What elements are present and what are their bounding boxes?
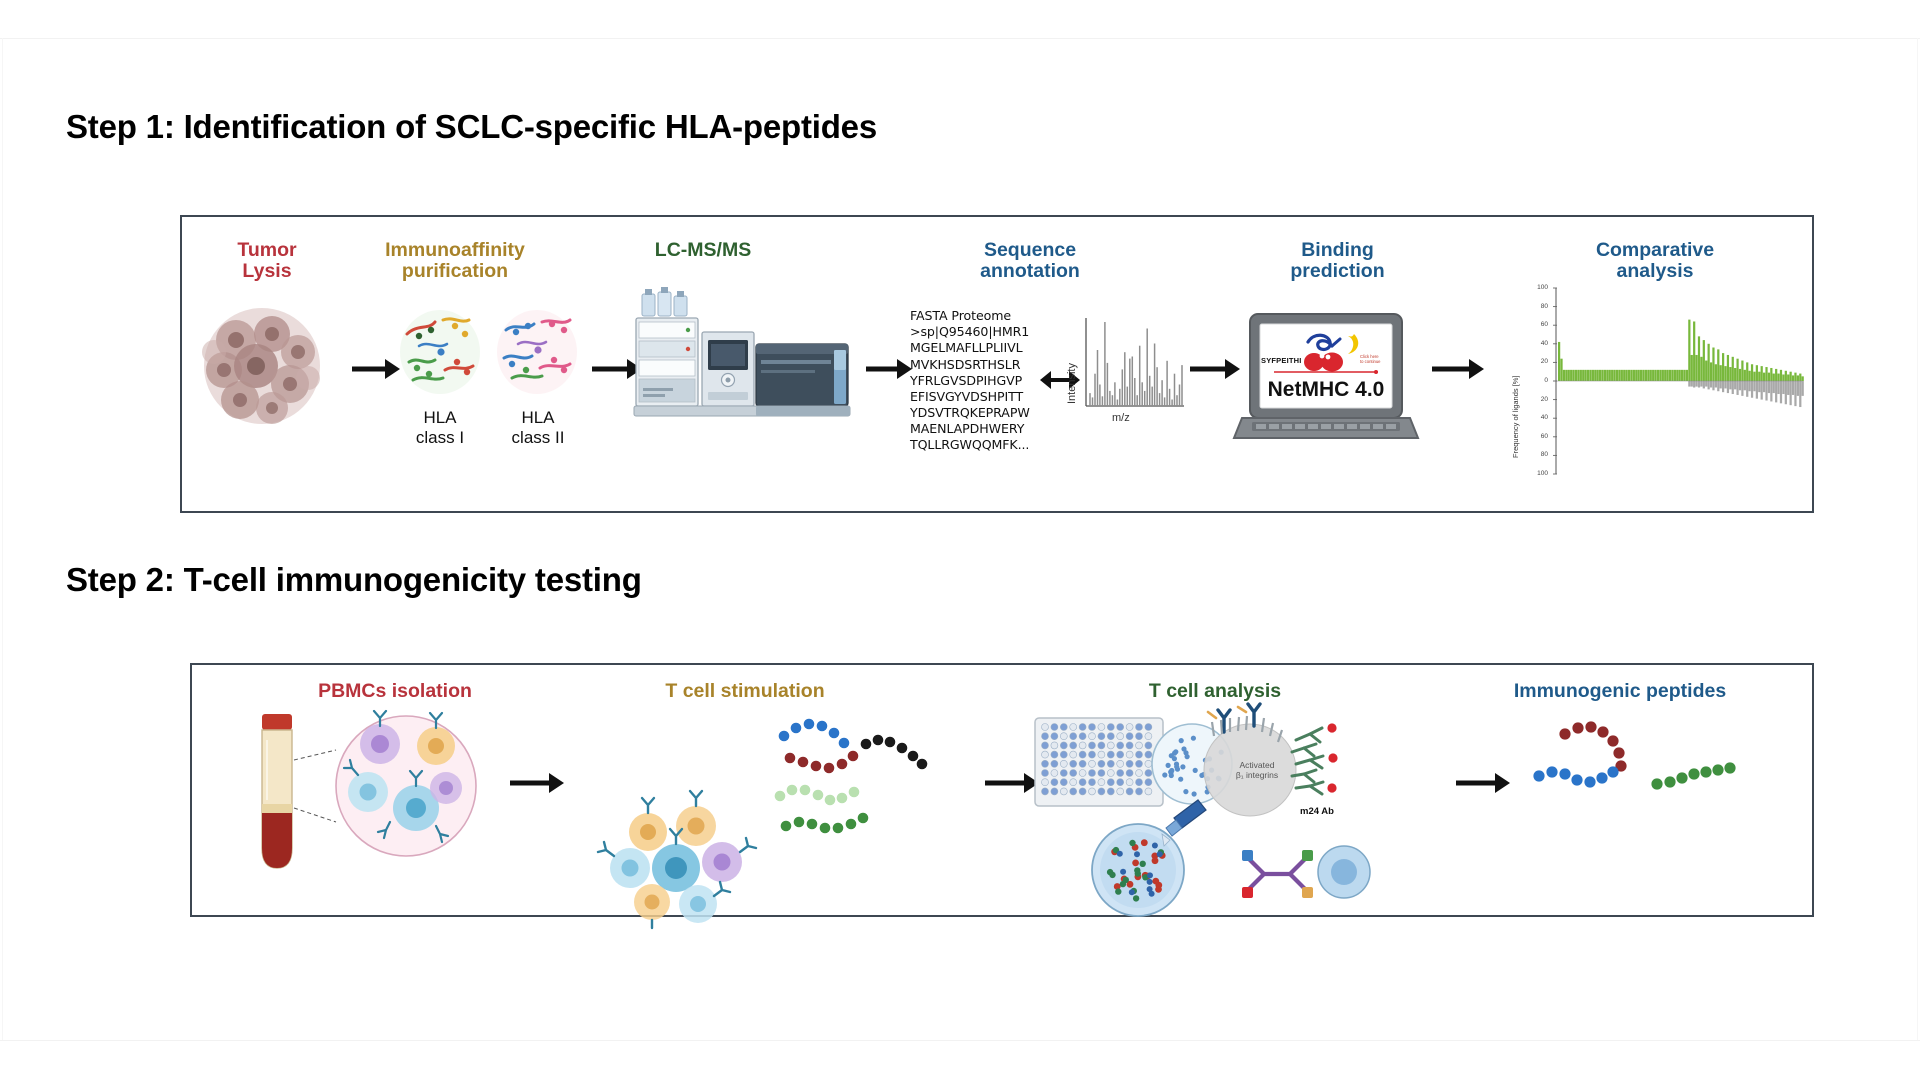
stage-label-lc-ms-ms: LC-MS/MS bbox=[608, 240, 798, 261]
pbmc-isolation-illustration bbox=[240, 700, 500, 900]
lc-ms-ms-instrument-illustration bbox=[630, 288, 860, 450]
step1-title: Step 1: Identification of SCLC-specific … bbox=[66, 108, 877, 146]
stage-label-comparative-analysis: Comparative analysis bbox=[1560, 240, 1750, 282]
hla-class-i-molecule-illustration bbox=[395, 300, 485, 400]
comparative-chart-tick: 60 bbox=[1532, 433, 1548, 440]
m24-antibody-label: m24 Ab bbox=[1300, 806, 1334, 817]
tumor-cell-cluster-illustration bbox=[190, 300, 340, 430]
workflow-arrow-7 bbox=[985, 772, 1041, 794]
syfpeithi-logo-subtext: Click here to continue bbox=[1360, 354, 1381, 365]
comparative-chart-tick: 20 bbox=[1532, 396, 1548, 403]
canvas-border-left bbox=[2, 38, 3, 1040]
microwell-plate-illustration bbox=[1035, 718, 1163, 806]
comparative-chart-tick: 80 bbox=[1532, 303, 1548, 310]
canvas-border-right bbox=[1917, 38, 1918, 1040]
comparative-analysis-chart: Frequency of ligands [%] 100806040200204… bbox=[1506, 288, 1806, 480]
petri-dish-pipette-illustration bbox=[1082, 812, 1202, 922]
fasta-proteome-text-block: FASTA Proteome >sp|Q95460|HMR1 MGELMAFLL… bbox=[910, 308, 1030, 454]
workflow-arrow-1 bbox=[352, 358, 400, 380]
spectrum-y-axis-label: Intensity bbox=[1066, 363, 1078, 404]
comparative-chart-tick: 0 bbox=[1532, 377, 1548, 384]
flow-cytometry-antibody-illustration bbox=[1238, 830, 1378, 916]
workflow-arrow-3 bbox=[866, 358, 914, 380]
stage-label-sequence-annotation: Sequence annotation bbox=[935, 240, 1125, 282]
t-cell-stimulation-cells-illustration bbox=[600, 800, 770, 920]
workflow-arrow-8 bbox=[1456, 772, 1512, 794]
comparative-chart-plot-area bbox=[1556, 288, 1804, 478]
canvas-border-bottom bbox=[0, 1040, 1920, 1041]
comparative-chart-tick: 100 bbox=[1532, 470, 1548, 477]
immunogenic-peptide-chains-illustration bbox=[1545, 712, 1755, 832]
comparative-chart-tick: 100 bbox=[1532, 284, 1548, 291]
activated-integrin-label: Activated β₁ integrins bbox=[1210, 760, 1304, 780]
peptide-bead-chains-illustration bbox=[770, 700, 980, 850]
stage-label-immunogenic-peptides: Immunogenic peptides bbox=[1460, 681, 1780, 702]
hla-class-i-label: HLA class I bbox=[386, 408, 494, 448]
hla-class-ii-label: HLA class II bbox=[484, 408, 592, 448]
comparative-chart-tick: 20 bbox=[1532, 358, 1548, 365]
stage-label-tumor-lysis: Tumor Lysis bbox=[193, 240, 341, 282]
figure-canvas: Step 1: Identification of SCLC-specific … bbox=[0, 0, 1920, 1080]
workflow-arrow-5 bbox=[1432, 358, 1486, 380]
syfpeithi-logo-text: SYFPEITHI bbox=[1261, 356, 1302, 365]
canvas-border-top bbox=[0, 38, 1920, 39]
comparative-chart-tick: 40 bbox=[1532, 340, 1548, 347]
hla-class-ii-molecule-illustration bbox=[492, 300, 582, 400]
stage-label-immunoaffinity-purification: Immunoaffinity purification bbox=[340, 240, 570, 282]
step2-title: Step 2: T-cell immunogenicity testing bbox=[66, 561, 642, 599]
comparative-chart-tick: 40 bbox=[1532, 414, 1548, 421]
comparative-chart-tick: 80 bbox=[1532, 451, 1548, 458]
spectrum-x-axis-label: m/z bbox=[1112, 412, 1130, 424]
comparative-chart-y-axis-label: Frequency of ligands [%] bbox=[1511, 375, 1520, 458]
workflow-arrow-4 bbox=[1190, 358, 1242, 380]
comparative-chart-tick: 60 bbox=[1532, 321, 1548, 328]
stage-label-t-cell-stimulation: T cell stimulation bbox=[620, 681, 870, 702]
stage-label-t-cell-analysis: T cell analysis bbox=[1105, 681, 1325, 702]
workflow-arrow-6 bbox=[510, 772, 566, 794]
stage-label-binding-prediction: Binding prediction bbox=[1250, 240, 1425, 282]
netmhc-app-name: NetMHC 4.0 bbox=[1262, 378, 1390, 402]
stage-label-pbmcs-isolation: PBMCs isolation bbox=[280, 681, 510, 702]
